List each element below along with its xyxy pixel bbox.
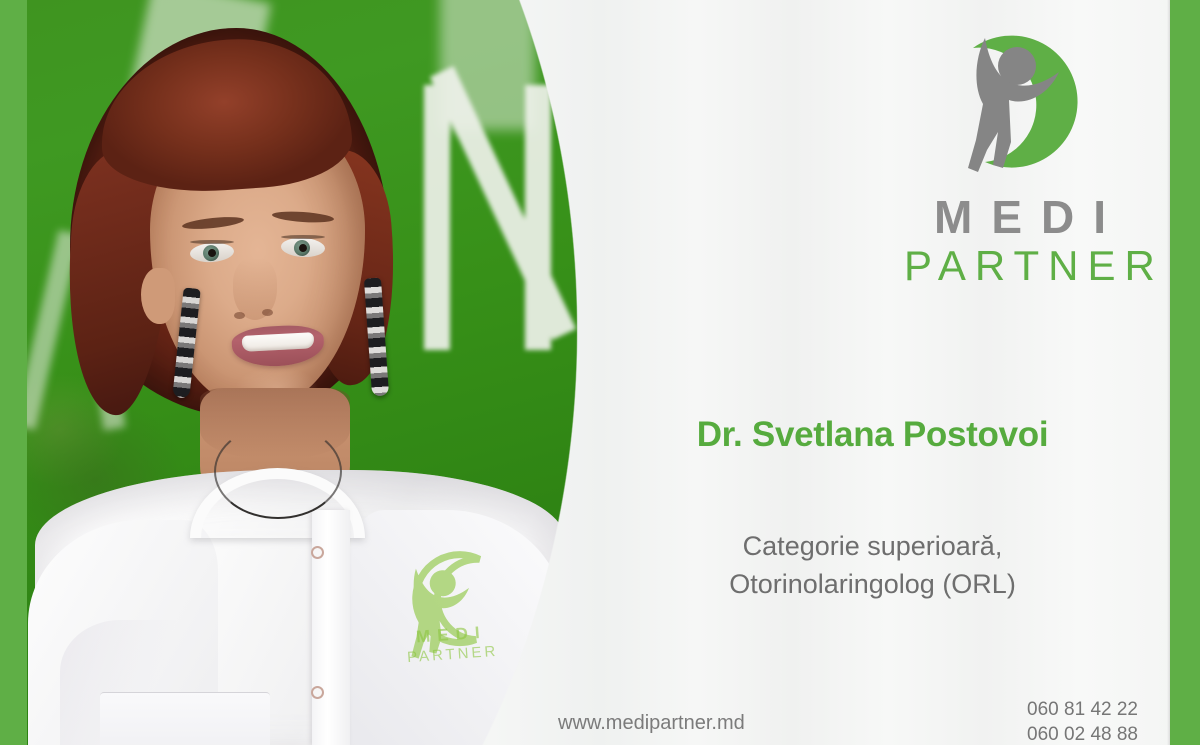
eyelid-right — [281, 235, 325, 239]
doctor-photo: MEDI PARTNER — [0, 0, 600, 745]
specialty-line-1: Categorie superioară, — [620, 528, 1125, 566]
logo-word-medi: MEDI — [895, 194, 1145, 240]
nostril-left — [234, 312, 245, 319]
specialty-line-2: Otorinolaringolog (ORL) — [620, 566, 1125, 604]
ear-left — [141, 268, 175, 324]
website-url[interactable]: www.medipartner.md — [558, 712, 745, 735]
coat-snap-bottom — [311, 686, 324, 699]
frame-border-right — [1170, 0, 1200, 745]
phone-number-2[interactable]: 060 02 48 88 — [1027, 723, 1138, 745]
hair-fringe — [95, 31, 355, 198]
doctor-name: Dr. Svetlana Postovoi — [620, 415, 1125, 455]
coat-pocket — [100, 692, 270, 745]
frame-border-left — [0, 0, 27, 745]
coat-snap-top — [311, 546, 324, 559]
nostril-right — [262, 309, 273, 316]
necklace — [214, 424, 342, 519]
phone-number-1[interactable]: 060 81 42 22 — [1027, 698, 1138, 723]
doctor-specialty: Categorie superioară, Otorinolaringolog … — [620, 528, 1125, 604]
eyelid-left — [190, 240, 234, 244]
doctor-profile-card: MEDI PARTNER MEDI PARTNER Dr. Svetlana P… — [0, 0, 1200, 745]
medipartner-figure-arc-icon — [895, 22, 1145, 182]
logo-word-partner: PARTNER — [895, 245, 1145, 287]
phone-numbers: 060 81 42 22 060 02 48 88 — [1027, 698, 1138, 745]
brand-logo: MEDI PARTNER — [895, 22, 1145, 287]
person-figure: MEDI PARTNER — [0, 0, 600, 745]
